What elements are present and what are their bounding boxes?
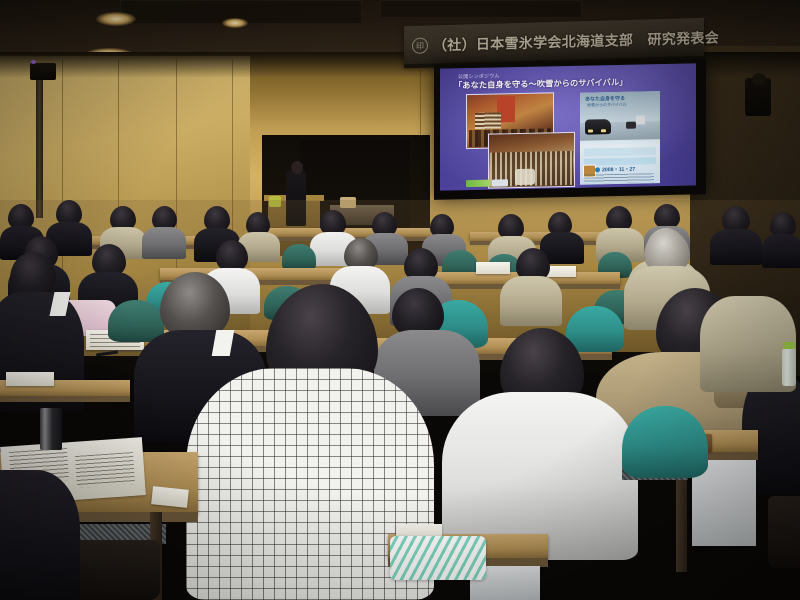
attendee-torso <box>500 276 562 326</box>
handout-papers <box>476 262 510 274</box>
conference-hall-photo: 印 （社）日本雪氷学会北海道支部 研究発表会 公開シンポジウム 「あなた自身を守… <box>0 0 800 600</box>
attendee-torso <box>0 470 80 600</box>
slide-sponsor-logo-2 <box>492 179 508 186</box>
wall-speaker-left-icon <box>30 63 56 80</box>
beverage-can <box>40 408 62 450</box>
speaker-stand <box>36 68 43 218</box>
ceiling-panel <box>380 0 582 18</box>
auditorium-chair <box>108 300 164 342</box>
speaker-cone-icon <box>752 73 766 85</box>
attendee-torso <box>142 227 186 259</box>
ceiling-downlight <box>222 18 248 28</box>
speaker-led-icon <box>31 60 36 64</box>
projection-screen: 公開シンポジウム 「あなた自身を守る〜吹雪からのサバイバル」 あなた自身を守る … <box>440 63 696 190</box>
poster-subhead: 吹雪からのサバイバル <box>587 102 627 109</box>
slide-poster: あなた自身を守る 吹雪からのサバイバル 2008・11・27 <box>580 91 660 185</box>
slide-sponsor-logo <box>466 180 490 188</box>
ceiling-downlight <box>96 12 136 26</box>
desk-edge <box>0 396 130 402</box>
handout-papers <box>151 486 189 508</box>
handout-papers <box>6 372 54 386</box>
water-bottle <box>782 348 796 386</box>
booklet-text-right <box>75 452 135 488</box>
poster-date: 2008・11・27 <box>602 166 635 174</box>
handout-papers <box>546 266 576 277</box>
auditorium-chair <box>566 306 624 352</box>
attendee-torso <box>710 229 762 265</box>
banner-title: （社）日本雪氷学会北海道支部 研究発表会 <box>433 27 719 55</box>
briefcase <box>768 496 800 568</box>
auditorium-chair <box>282 244 316 270</box>
striped-towel <box>390 536 486 580</box>
society-seal-icon: 印 <box>412 38 428 54</box>
bottle-cap <box>783 342 795 349</box>
presenter-head <box>291 161 303 174</box>
attendee-torso <box>762 234 800 268</box>
